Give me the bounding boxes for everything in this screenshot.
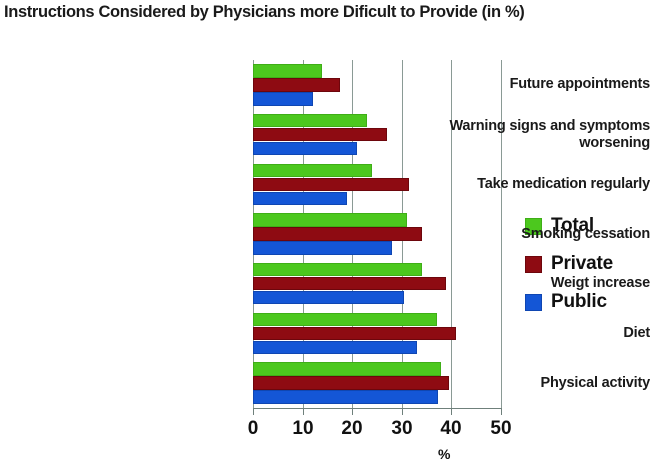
- x-tick-40: [451, 408, 452, 415]
- x-axis-line: [253, 408, 502, 409]
- bar-public-2[interactable]: [253, 192, 347, 206]
- legend-label-private: Private: [551, 253, 613, 275]
- bar-total-2[interactable]: [253, 164, 372, 178]
- category-label-2: Take medication regularly: [404, 176, 650, 193]
- bar-public-3[interactable]: [253, 241, 392, 255]
- x-tick-label-10: 10: [283, 418, 323, 440]
- x-tick-label-20: 20: [332, 418, 372, 440]
- x-tick-10: [303, 408, 304, 415]
- category-label-4: Weigt increase: [404, 275, 650, 292]
- category-label-6: Physical activity: [404, 375, 650, 392]
- x-tick-label-0: 0: [233, 418, 273, 440]
- bar-public-4[interactable]: [253, 291, 404, 305]
- bar-public-6[interactable]: [253, 390, 438, 404]
- x-tick-label-50: 50: [481, 418, 521, 440]
- x-tick-20: [352, 408, 353, 415]
- bar-private-3[interactable]: [253, 227, 422, 241]
- bar-total-3[interactable]: [253, 213, 407, 227]
- bar-total-0[interactable]: [253, 64, 322, 78]
- legend-swatch-public-icon: [525, 294, 542, 311]
- bar-private-1[interactable]: [253, 128, 387, 142]
- bar-public-1[interactable]: [253, 142, 357, 156]
- bar-public-5[interactable]: [253, 341, 417, 355]
- bar-public-0[interactable]: [253, 92, 313, 106]
- bar-total-1[interactable]: [253, 114, 367, 128]
- bar-private-2[interactable]: [253, 178, 409, 192]
- chart-legend: Total Private Public: [525, 207, 613, 321]
- x-tick-0: [253, 408, 254, 415]
- bar-total-4[interactable]: [253, 263, 422, 277]
- bar-private-0[interactable]: [253, 78, 340, 92]
- x-tick-label-30: 30: [382, 418, 422, 440]
- x-axis-unit-label: %: [438, 446, 450, 462]
- category-label-5: Diet: [404, 325, 650, 342]
- chart-title: Instructions Considered by Physicians mo…: [4, 3, 648, 22]
- category-label-1: Warning signs and symptoms worsening: [404, 118, 650, 152]
- bar-chart: Instructions Considered by Physicians mo…: [0, 0, 650, 474]
- x-tick-label-40: 40: [431, 418, 471, 440]
- legend-label-public: Public: [551, 291, 607, 313]
- category-label-3: Smoking cessation: [404, 226, 650, 243]
- x-tick-30: [402, 408, 403, 415]
- x-tick-50: [501, 408, 502, 415]
- category-label-0: Future appointments: [404, 76, 650, 93]
- legend-swatch-private-icon: [525, 256, 542, 273]
